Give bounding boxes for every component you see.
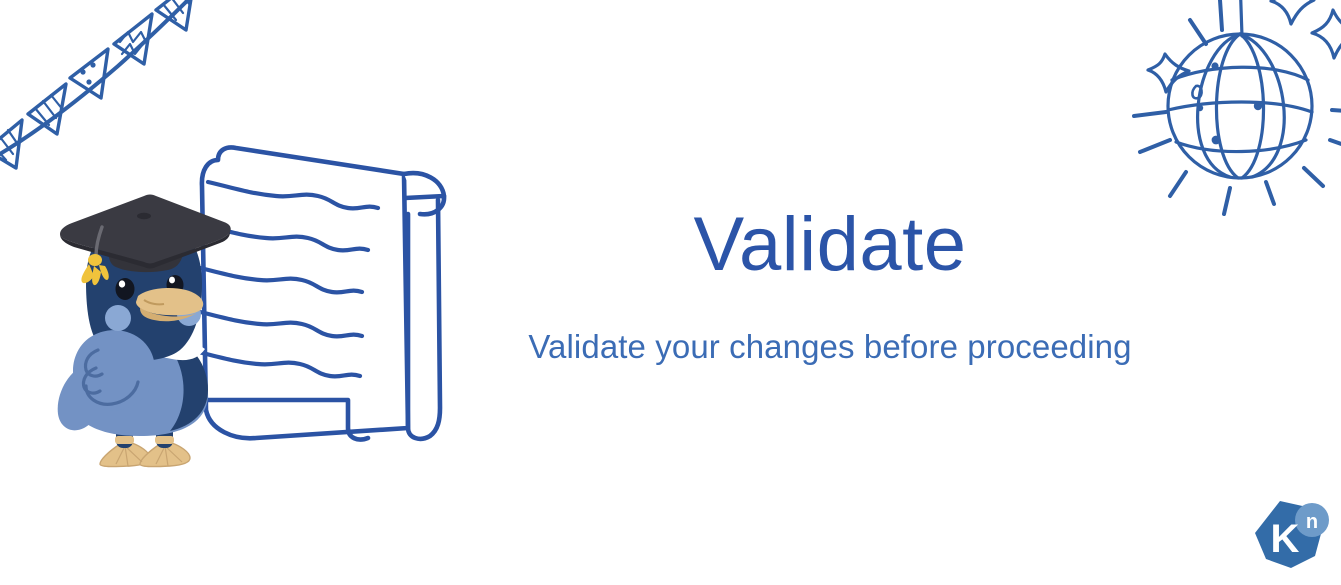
party-bunting-icon	[0, 0, 224, 172]
knative-logo: K n	[1249, 497, 1333, 577]
diploma-scroll-icon	[176, 138, 476, 453]
page-subtitle: Validate your changes before proceeding	[470, 327, 1190, 367]
slide-canvas: Validate Validate your changes before pr…	[0, 0, 1341, 585]
page-title: Validate	[470, 205, 1190, 285]
logo-secondary-letter: n	[1306, 511, 1318, 533]
graduate-bird-mascot-icon	[52, 190, 237, 470]
logo-primary-letter: K	[1271, 517, 1300, 561]
heading-block: Validate Validate your changes before pr…	[470, 205, 1190, 366]
disco-ball-icon	[1118, 0, 1341, 228]
